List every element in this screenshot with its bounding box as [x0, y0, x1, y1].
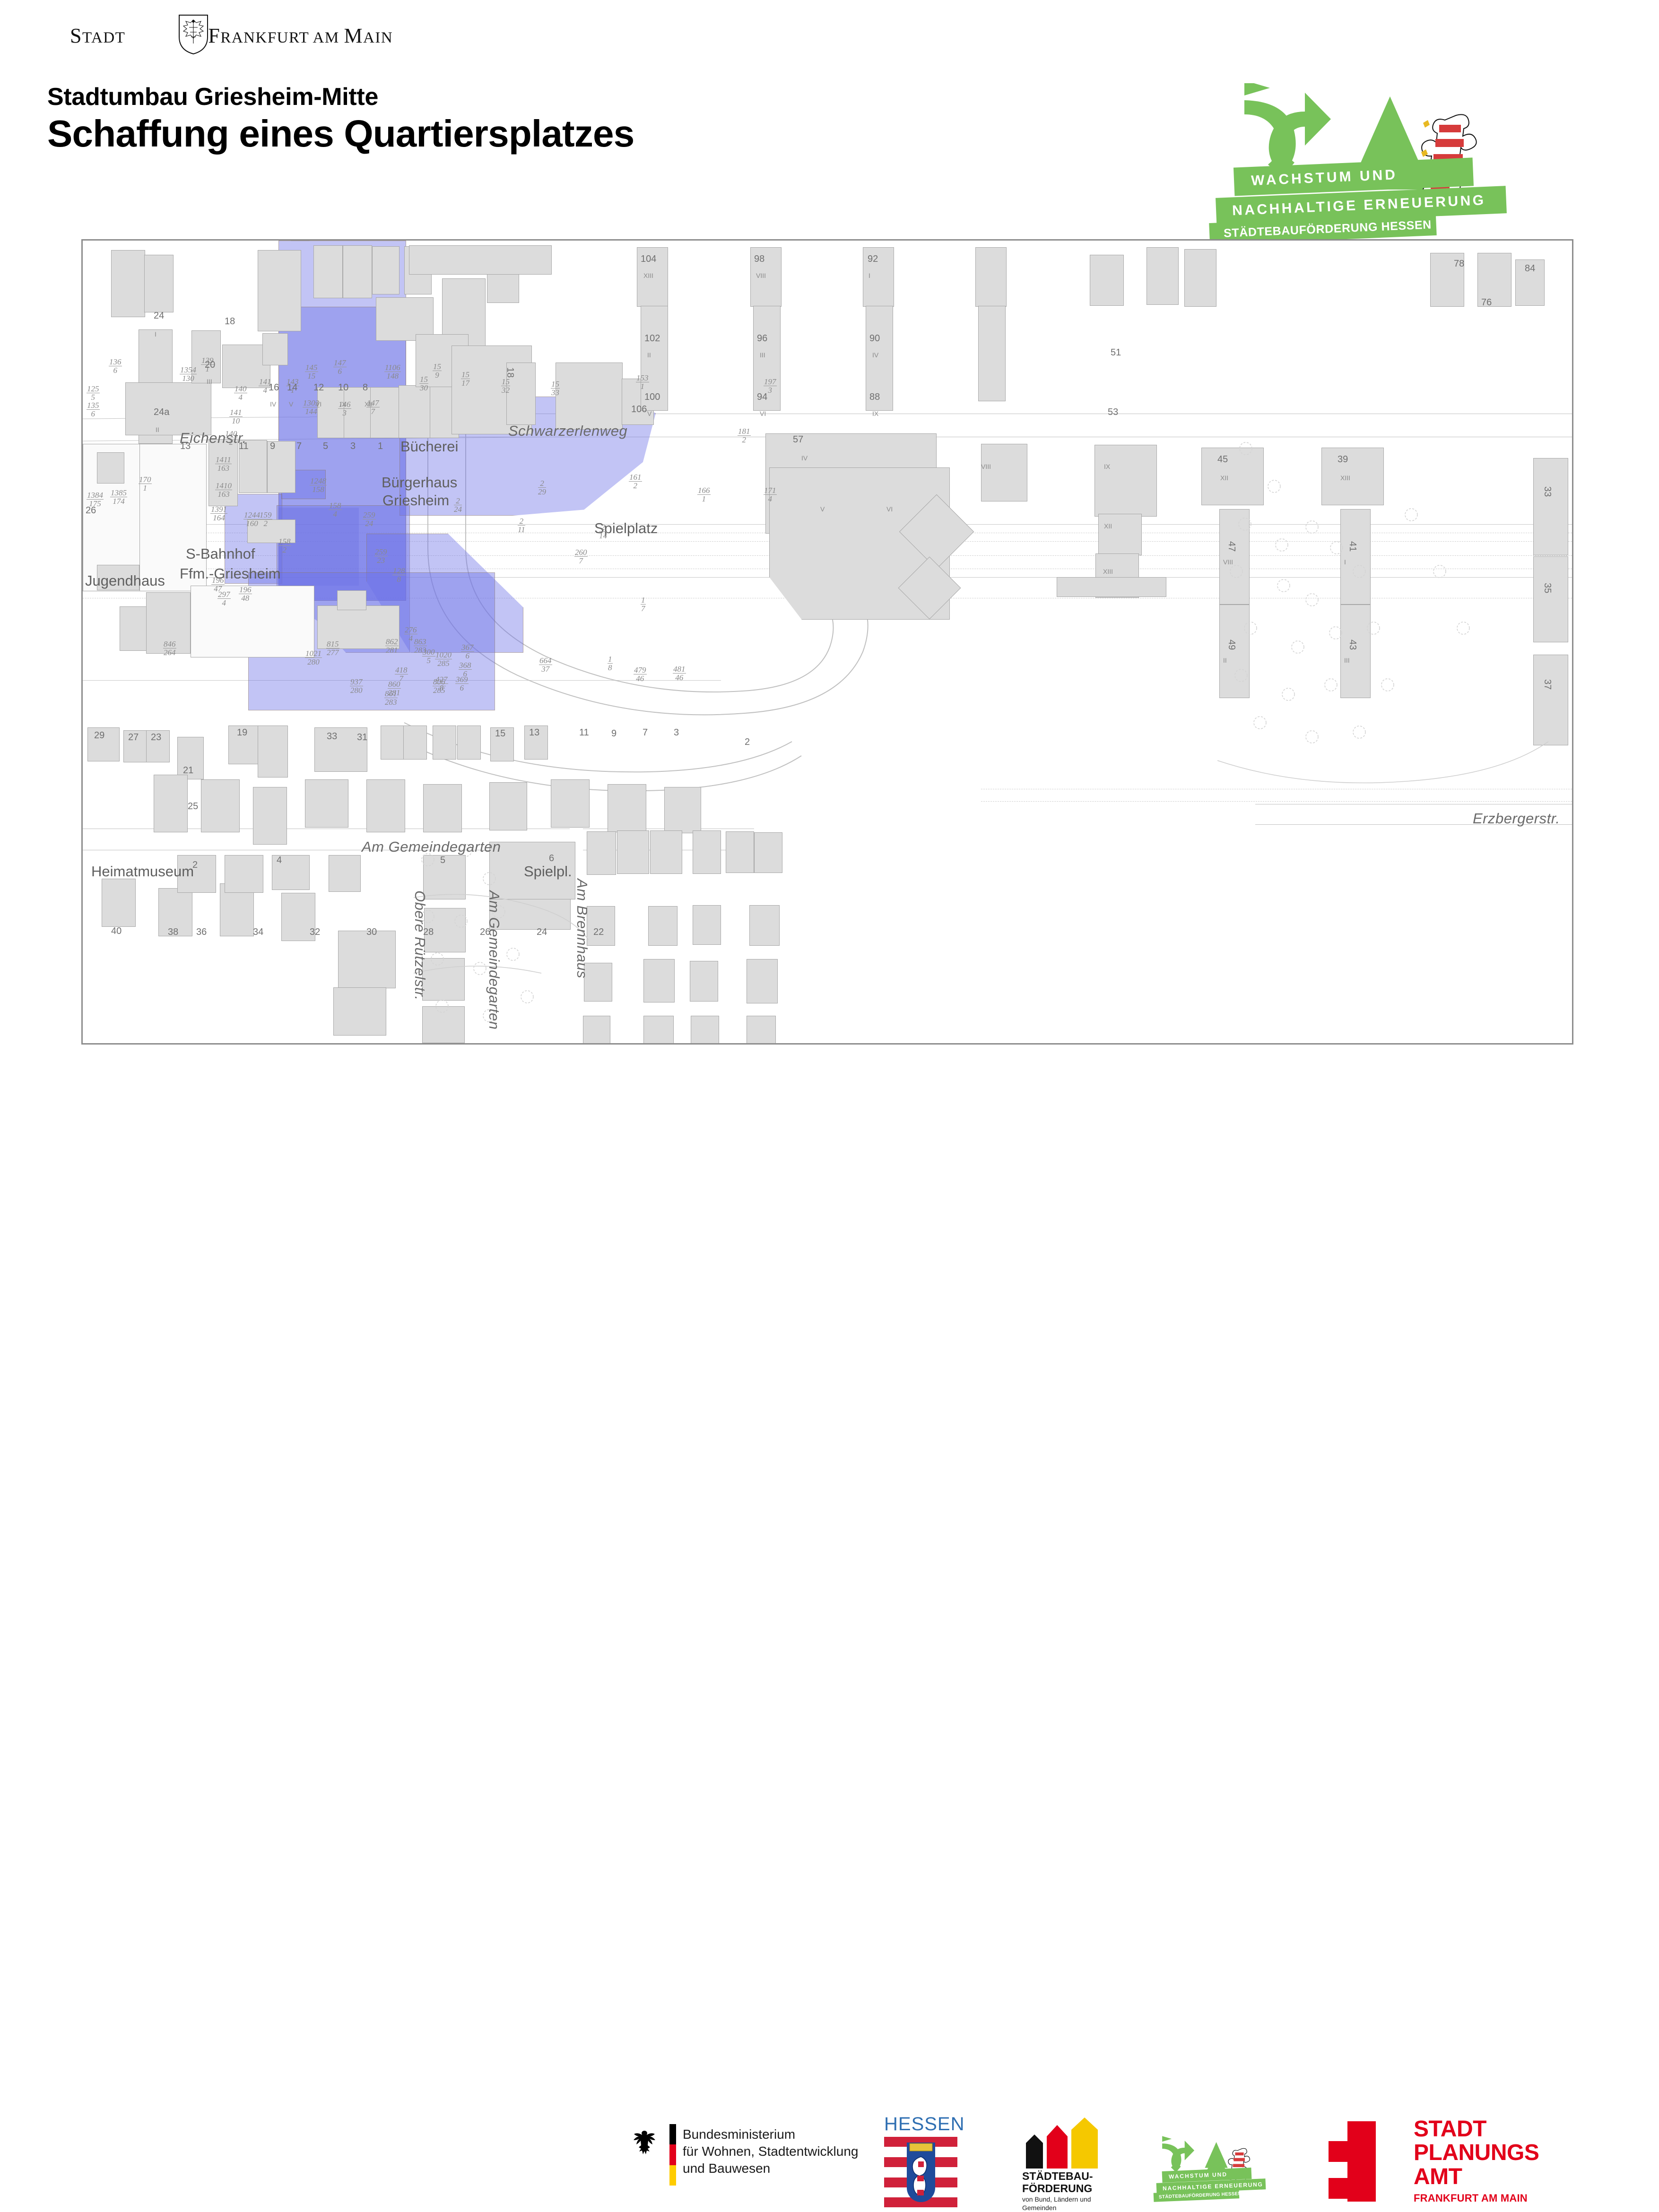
parcel-number: 2607 — [574, 548, 588, 565]
parcel-number: 66437 — [539, 657, 552, 673]
parcel-number: 2974 — [217, 590, 231, 607]
building — [333, 987, 386, 1036]
house-number: 6 — [549, 853, 554, 864]
house-number: 38 — [168, 927, 178, 938]
spa-line-3: AMT — [1414, 2165, 1539, 2189]
storey-marker: I — [155, 330, 156, 338]
bmwsb-logo: Bundesministerium für Wohnen, Stadtentwi… — [629, 2121, 894, 2192]
building — [747, 959, 778, 1003]
building — [608, 784, 646, 832]
house-number: 29 — [94, 730, 104, 741]
parcel-number: 159 — [433, 363, 442, 379]
storey-marker: VI — [760, 410, 766, 417]
house-number: 32 — [310, 927, 320, 938]
house-number: 3 — [674, 727, 679, 738]
parcel-number: 1592 — [259, 511, 272, 527]
storey-marker: V — [289, 400, 293, 408]
parcel-number: 1530 — [419, 375, 428, 392]
parcel-number: 25923 — [374, 548, 388, 564]
building — [225, 855, 263, 893]
building — [258, 726, 288, 778]
parcel-number: 1402 — [225, 430, 238, 446]
building — [1098, 514, 1142, 555]
parcel-number: 17 — [641, 596, 646, 613]
staedtebau-line-1: STÄDTEBAU- — [1022, 2170, 1093, 2183]
storey-marker: VIII — [1223, 558, 1233, 566]
parcel-number: 1244160 — [243, 511, 261, 527]
parcel-number: 1517 — [461, 371, 470, 387]
building — [201, 779, 240, 832]
storey-marker: II — [647, 351, 651, 359]
house-number: 11 — [579, 727, 589, 738]
building — [409, 245, 552, 275]
building — [650, 830, 682, 874]
federal-eagle-icon — [629, 2129, 660, 2165]
house-number: 13 — [180, 441, 191, 452]
cadastral-map[interactable]: Eichenstr.SchwarzerlenwegErzbergerstr.Am… — [81, 239, 1573, 1045]
parcel-number: 1391164 — [210, 505, 227, 522]
building — [1094, 445, 1157, 517]
parcel-number: 48146 — [673, 665, 686, 682]
building — [337, 590, 366, 610]
building — [343, 245, 372, 298]
staedtebau-sub-1: von Bund, Ländern und — [1022, 2195, 1091, 2204]
parcel-number: 861283 — [384, 690, 398, 706]
storey-marker: XIII — [1340, 474, 1350, 482]
house-number: 51 — [1111, 347, 1121, 358]
parcel-number: 214 — [599, 523, 607, 540]
poi-label: Ffm.-Griesheim — [180, 565, 281, 582]
building — [399, 385, 431, 438]
parcel-number: 1354130 — [180, 366, 197, 382]
poi-label: Bücherei — [400, 438, 458, 455]
house-number: 47 — [1226, 541, 1237, 552]
parcel-number: 937280 — [350, 678, 363, 694]
storey-marker: XII — [365, 400, 373, 408]
building — [747, 1016, 776, 1045]
staedtebau-line-2: FÖRDERUNG — [1022, 2183, 1093, 2195]
parcel-number: 1410163 — [215, 482, 232, 498]
house-number: 10 — [338, 382, 348, 393]
storey-marker: IV — [801, 454, 808, 462]
house-number: 57 — [793, 434, 803, 445]
storey-marker: VIII — [981, 463, 991, 470]
building — [1057, 577, 1166, 597]
house-number: 31 — [357, 732, 367, 743]
poi-label: Jugendhaus — [85, 572, 165, 589]
building — [643, 959, 675, 1002]
house-number: 106 — [631, 404, 647, 415]
storey-marker: IV — [872, 351, 878, 359]
house-number: 3 — [350, 441, 356, 452]
house-number: 33 — [327, 731, 337, 742]
building — [1147, 247, 1179, 305]
parcel-number: 1356 — [87, 401, 100, 418]
house-number: 92 — [868, 254, 878, 265]
building — [144, 255, 174, 312]
house-number: 2 — [745, 737, 750, 748]
house-number: 24a — [154, 407, 169, 418]
building — [691, 1016, 719, 1045]
parcel-number: 862281 — [385, 638, 399, 654]
house-number: 26 — [86, 505, 96, 516]
house-number: 9 — [270, 441, 275, 452]
parcel-number: 1532 — [501, 378, 510, 394]
house-number: 11 — [239, 441, 249, 452]
building — [981, 444, 1027, 501]
building — [693, 905, 721, 945]
house-number: 98 — [754, 254, 764, 265]
building — [102, 879, 136, 927]
parcel-number: 1584 — [329, 501, 342, 518]
parcel-number: 1701 — [139, 475, 152, 492]
poi-label: Spielpl. — [524, 863, 572, 880]
storey-marker: XIII — [1103, 568, 1113, 575]
house-number: 26 — [480, 927, 490, 938]
parcel-number: 3676 — [461, 643, 474, 660]
parcel-number: 47946 — [634, 666, 647, 683]
house-number: 43 — [1347, 639, 1358, 650]
page-heading: Stadtumbau Griesheim-Mitte Schaffung ein… — [47, 84, 634, 154]
house-number: 21 — [183, 765, 193, 776]
building — [253, 787, 287, 845]
parcel-number: 18 — [608, 655, 613, 672]
building — [338, 931, 396, 988]
parcel-number: 211 — [518, 517, 525, 534]
storey-marker: IX — [872, 410, 878, 417]
funding-logos-footer: Bundesministerium für Wohnen, Stadtentwi… — [0, 1054, 1659, 1172]
house-number: 76 — [1481, 297, 1492, 308]
parcel-number: 1411163 — [215, 456, 232, 472]
parcel-number: 1021280 — [305, 649, 322, 666]
storey-marker: XII — [1220, 474, 1228, 482]
building — [305, 779, 348, 828]
storey-marker: III — [207, 378, 212, 385]
building — [111, 250, 145, 317]
parcel-block — [191, 586, 314, 657]
storey-marker: VI — [315, 400, 321, 408]
house-number: 5 — [323, 441, 328, 452]
staedtebau-label: STÄDTEBAU- FÖRDERUNG — [1022, 2170, 1093, 2195]
building — [643, 1016, 674, 1045]
spa-line-1: STADT — [1414, 2117, 1539, 2141]
storey-marker: IX — [1104, 463, 1110, 470]
storey-marker: III — [760, 351, 765, 359]
storey-marker: III — [1344, 657, 1350, 664]
house-number: 4 — [277, 855, 282, 866]
house-number: 35 — [1542, 583, 1553, 593]
house-number: 1 — [378, 441, 383, 452]
city-logo-text: STADT FRANKFURT AM MAIN — [70, 24, 391, 48]
parcel-number: 1288 — [392, 567, 406, 583]
storey-marker: XIII — [643, 272, 653, 279]
storey-marker: V — [820, 505, 825, 513]
house-number: 18 — [225, 316, 235, 327]
storey-marker: II — [156, 426, 159, 433]
building — [258, 250, 301, 331]
storey-marker: VIII — [756, 272, 766, 279]
stadtplanungsamt-mark-icon — [1329, 2121, 1399, 2202]
parcel-number: 1248158 — [310, 477, 327, 493]
house-number: 20 — [205, 360, 215, 371]
street-label: Erzbergerstr. — [1473, 810, 1560, 827]
city-logo: STADT FRANKFURT AM MAIN — [70, 22, 391, 55]
house-number: 41 — [1347, 541, 1358, 552]
building — [754, 832, 782, 873]
house-number: 102 — [644, 333, 660, 344]
house-number: 23 — [151, 732, 161, 743]
spa-subline: FRANKFURT AM MAIN — [1414, 2192, 1528, 2204]
house-number: 14 — [287, 382, 297, 393]
germany-flag-bar — [669, 2124, 676, 2186]
building — [97, 452, 124, 484]
storey-marker: V — [647, 410, 651, 417]
building — [372, 246, 400, 294]
house-number: 25 — [188, 801, 198, 812]
house-number: 2 — [192, 860, 198, 871]
parcel-number: 1812 — [738, 427, 751, 444]
building — [262, 333, 288, 365]
house-number: 18 — [504, 367, 515, 378]
hessen-flag — [884, 2137, 957, 2208]
house-number: 34 — [253, 927, 263, 938]
storey-marker: VI — [886, 505, 893, 513]
parcel-number: 1255 — [87, 385, 100, 401]
tree-symbols — [1217, 430, 1573, 855]
parcel-number: 1531 — [636, 374, 649, 390]
house-number: 33 — [1542, 486, 1553, 497]
bmwsb-line-1: Bundesministerium — [683, 2126, 858, 2143]
parcel-number: 1612 — [629, 473, 642, 490]
house-number: 39 — [1338, 454, 1348, 465]
building — [617, 830, 649, 874]
bmwsb-line-3: und Bauwesen — [683, 2160, 858, 2177]
street-label: Schwarzerlenweg — [508, 423, 627, 440]
house-number: 12 — [313, 382, 324, 393]
parcel-number: 1582 — [278, 537, 291, 554]
parcel-number: 229 — [538, 479, 546, 496]
house-number: 22 — [593, 927, 604, 938]
hessen-logo: HESSEN — [884, 2114, 964, 2208]
wachstum-nachhaltige-erneuerung-badge: WACHSTUM UND NACHHALTIGE ERNEUERUNG STÄD… — [1234, 83, 1565, 225]
building — [433, 726, 456, 760]
building — [154, 775, 188, 832]
staedtebaufoerderung-logo: STÄDTEBAU- FÖRDERUNG von Bund, Ländern u… — [1022, 2117, 1131, 2207]
building — [726, 831, 754, 873]
storey-marker: II — [1223, 657, 1227, 664]
house-number: 7 — [643, 727, 648, 738]
parcel-number: 863283 — [414, 638, 427, 654]
building — [313, 245, 343, 298]
building — [690, 961, 718, 1002]
storey-marker: IV — [270, 400, 276, 408]
house-number: 28 — [423, 927, 434, 938]
parcel-number: 19648 — [239, 586, 252, 602]
parcel-number: 14515 — [305, 363, 318, 380]
house-number: 88 — [869, 392, 880, 403]
house-number: 13 — [529, 727, 539, 738]
house-number: 94 — [757, 392, 767, 403]
street-label: Am Brennhaus — [573, 879, 591, 978]
storey-marker: I — [869, 272, 870, 279]
house-number: 36 — [196, 927, 207, 938]
staedtebau-subline: von Bund, Ländern und Gemeinden — [1022, 2195, 1091, 2212]
house-number: 49 — [1226, 639, 1237, 650]
building — [664, 787, 701, 833]
parcel-number: 1106148 — [384, 363, 401, 380]
house-number: 37 — [1542, 679, 1553, 690]
building — [648, 906, 677, 946]
storey-marker: I — [1344, 558, 1346, 566]
building — [749, 905, 780, 946]
building — [403, 726, 427, 760]
building-jugendhaus — [120, 606, 147, 651]
building — [1090, 255, 1124, 306]
poi-label: Griesheim — [382, 492, 449, 509]
poi-label: Bürgerhaus — [382, 474, 457, 491]
house-number: 24 — [154, 311, 164, 321]
house-number: 84 — [1525, 263, 1535, 274]
parcel-number: 25924 — [363, 511, 376, 527]
parcel-number: 846264 — [163, 640, 176, 657]
house-number: 16 — [269, 382, 279, 393]
house-number: 9 — [611, 728, 617, 739]
building — [975, 247, 1007, 307]
storey-marker: XII — [1104, 522, 1112, 530]
building — [423, 784, 462, 832]
project-kicker: Stadtumbau Griesheim-Mitte — [47, 84, 634, 110]
house-number: 104 — [641, 254, 656, 265]
house-number: 27 — [128, 732, 139, 743]
building — [381, 726, 404, 760]
staedtebau-sub-2: Gemeinden — [1022, 2204, 1091, 2212]
building — [366, 779, 405, 832]
house-number: 30 — [366, 927, 377, 938]
house-number: 19 — [237, 727, 247, 738]
parcel-number: 3696 — [455, 675, 469, 692]
house-number: 100 — [644, 392, 660, 403]
street-label: Am Gemeindegarten — [362, 838, 501, 855]
house-number: 40 — [111, 926, 122, 937]
map-canvas: Eichenstr.SchwarzerlenwegErzbergerstr.Am… — [83, 241, 1572, 1043]
building — [978, 306, 1006, 401]
storey-marker: IX — [340, 400, 346, 408]
parcel-number: 224 — [454, 497, 462, 513]
parcel-number: 14110 — [229, 408, 243, 425]
parcel-number: 1714 — [764, 486, 777, 503]
parcel-number: 815277 — [326, 640, 339, 657]
street-label: Am Gemeindegarten — [486, 890, 503, 1030]
spa-line-2: PLANUNGS — [1414, 2141, 1539, 2165]
building — [1184, 249, 1216, 307]
building — [693, 830, 721, 874]
poi-label: S-Bahnhof — [186, 545, 255, 562]
parcel-number: 806285 — [433, 678, 446, 694]
house-number: 7 — [296, 441, 302, 452]
building — [556, 363, 623, 430]
building — [489, 782, 527, 830]
parcel-number: 1476 — [333, 359, 347, 375]
house-number: 90 — [869, 333, 880, 344]
stadtplanungsamt-label: STADT PLANUNGS AMT — [1414, 2117, 1539, 2189]
parcel-number: 1533 — [551, 380, 560, 397]
building — [551, 779, 590, 828]
page-title: Schaffung eines Quartiersplatzes — [47, 114, 634, 154]
hessen-label: HESSEN — [884, 2114, 964, 2135]
house-number: 78 — [1454, 259, 1464, 269]
poi-label: Heimatmuseum — [91, 863, 194, 880]
stadtplanungsamt-logo: STADT PLANUNGS AMT FRANKFURT AM MAIN — [1329, 2117, 1584, 2207]
parcel-number: 1366 — [109, 358, 122, 374]
house-number: 15 — [495, 728, 505, 739]
house-number: 5 — [440, 855, 445, 866]
bmwsb-label: Bundesministerium für Wohnen, Stadtentwi… — [683, 2126, 858, 2177]
house-number: 53 — [1108, 407, 1118, 418]
parcel-number: 1020285 — [435, 651, 452, 667]
building — [329, 855, 361, 892]
parcel-number: 1385174 — [110, 489, 127, 505]
wachstum-badge-footer: WACHSTUM UND NACHHALTIGE ERNEUERUNG STÄD… — [1158, 2135, 1281, 2197]
hessen-shield — [907, 2143, 935, 2202]
house-number: 45 — [1217, 454, 1228, 465]
house-number: 8 — [363, 382, 368, 393]
parcel-number: 1661 — [697, 486, 711, 503]
bmwsb-line-2: für Wohnen, Stadtentwicklung — [683, 2143, 858, 2160]
house-number: 96 — [757, 333, 767, 344]
parcel-number: 1404 — [234, 385, 247, 401]
house-shapes-icon — [1022, 2117, 1131, 2169]
street-label: Obere Rützelstr. — [411, 890, 428, 1001]
building — [457, 726, 481, 760]
house-number: 24 — [537, 927, 547, 938]
